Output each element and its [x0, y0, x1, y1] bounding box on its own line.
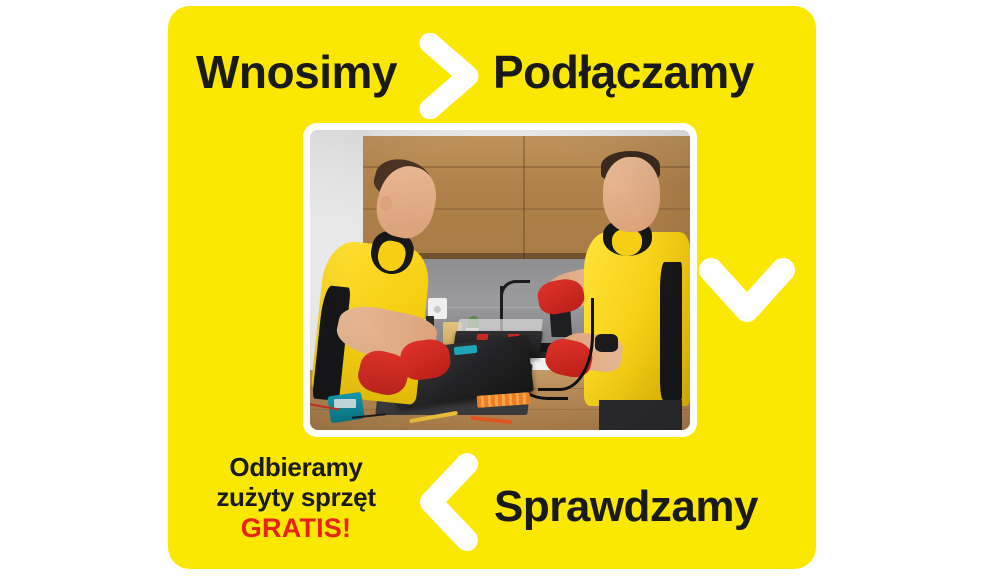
step-2-label: Podłączamy: [493, 42, 754, 102]
offer-line-1: Odbieramy: [186, 452, 406, 482]
step-1-label: Wnosimy: [196, 42, 397, 102]
offer-free-badge: GRATIS!: [186, 512, 406, 544]
photo-frame: [303, 123, 697, 437]
step-3-label: Sprawdzamy: [494, 479, 758, 535]
screenshot-root: Wnosimy Podłączamy: [0, 0, 1000, 581]
chevron-left-icon: [413, 452, 483, 552]
offer-line-2: zużyty sprzęt: [186, 482, 406, 512]
photo-vignette: [310, 130, 690, 430]
chevron-right-icon: [418, 33, 484, 119]
promo-card: Wnosimy Podłączamy: [168, 6, 816, 569]
free-disposal-offer: Odbieramy zużyty sprzęt GRATIS!: [186, 452, 406, 544]
installation-photo: [310, 130, 690, 430]
chevron-down-icon: [697, 256, 797, 334]
